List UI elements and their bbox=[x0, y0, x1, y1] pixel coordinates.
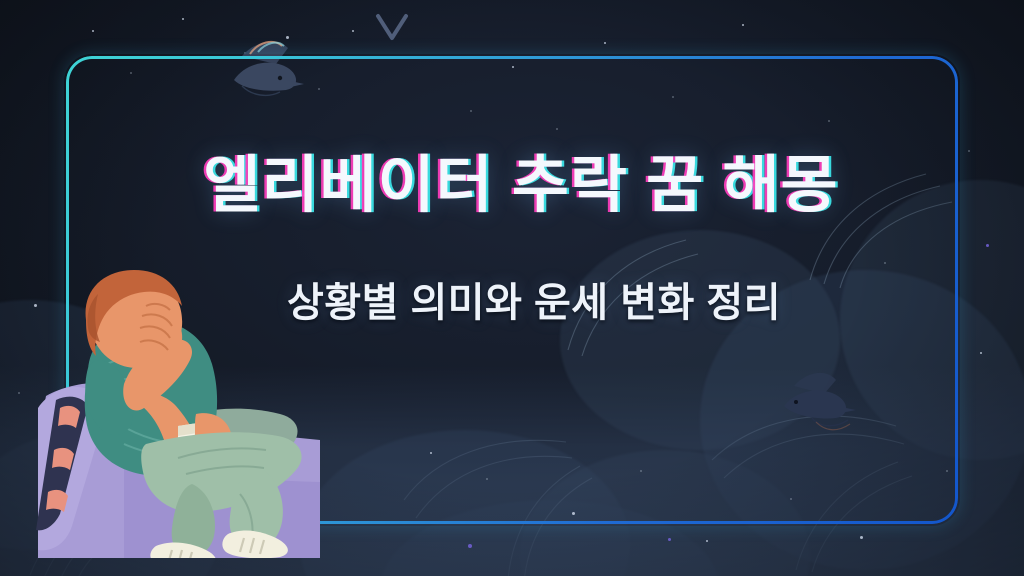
star bbox=[572, 512, 575, 515]
thumbnail-canvas: 엘리베이터 추락 꿈 해몽 상황별 의미와 운세 변화 정리 bbox=[0, 0, 1024, 576]
star bbox=[130, 72, 132, 74]
star bbox=[860, 536, 863, 539]
text-block: 엘리베이터 추락 꿈 해몽 상황별 의미와 운세 변화 정리 bbox=[0, 150, 1024, 328]
star bbox=[828, 120, 830, 122]
star bbox=[906, 56, 908, 58]
star bbox=[742, 24, 744, 26]
bird-right-icon bbox=[772, 362, 882, 442]
page-subtitle: 상황별 의미와 운세 변화 정리 bbox=[0, 270, 1024, 328]
star bbox=[352, 30, 354, 32]
star bbox=[512, 66, 514, 68]
star bbox=[486, 478, 488, 480]
star bbox=[980, 352, 982, 354]
star bbox=[668, 538, 671, 541]
bird-top-left-icon bbox=[224, 34, 334, 114]
star bbox=[706, 540, 708, 542]
star bbox=[182, 18, 184, 20]
page-title: 엘리베이터 추락 꿈 해몽 bbox=[0, 150, 1024, 222]
star bbox=[468, 544, 472, 548]
star bbox=[946, 470, 948, 472]
star bbox=[556, 128, 558, 130]
star bbox=[470, 110, 472, 112]
star bbox=[430, 452, 432, 454]
star bbox=[92, 30, 94, 32]
star bbox=[18, 392, 20, 394]
star bbox=[672, 96, 674, 98]
star bbox=[790, 498, 792, 500]
bird-small-v-icon bbox=[372, 12, 412, 48]
star bbox=[604, 42, 606, 44]
star bbox=[640, 470, 642, 472]
